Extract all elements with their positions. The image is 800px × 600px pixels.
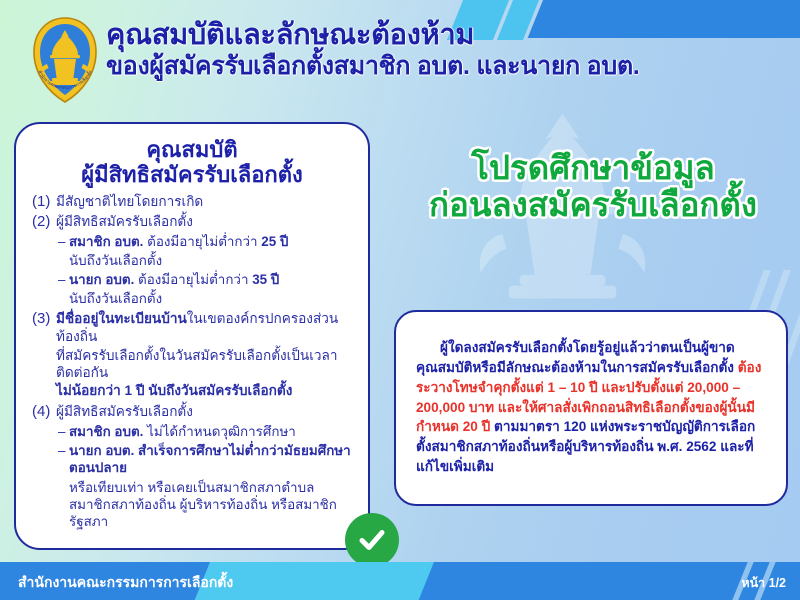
sub-item-continuation: หรือเทียบเท่า หรือเคยเป็นสมาชิกสภาตำบล	[69, 479, 352, 496]
sub-item-text: นายก อบต. ต้องมีอายุไม่ต่ำกว่า 35 ปี	[69, 271, 352, 288]
sub-item-mid: ต้องมีอายุไม่ต่ำกว่า	[134, 272, 252, 287]
list-item: (1) มีสัญชาติไทยโดยการเกิด	[32, 193, 352, 211]
item3-line-2: ที่สมัครรับเลือกตั้งในวันสมัครรับเลือกตั…	[56, 347, 352, 382]
list-item: (2) ผู้มีสิทธิสมัครรับเลือกตั้ง	[32, 213, 352, 231]
sub-item-text: สมาชิก อบต. ต้องมีอายุไม่ต่ำกว่า 25 ปี	[69, 233, 352, 250]
dash-bullet: –	[58, 423, 69, 440]
card-title-line-1: คุณสมบัติ	[32, 138, 352, 163]
please-study-heading: โปรดศึกษาข้อมูล ก่อนลงสมัครรับเลือกตั้ง	[388, 150, 798, 224]
warning-segment-1: ผู้ใดลงสมัครรับเลือกตั้งโดยรู้อยู่แล้วว่…	[416, 340, 738, 375]
dash-bullet: –	[58, 233, 69, 250]
item-number: (4)	[32, 403, 56, 421]
item3-bold-lead: มีชื่ออยู่ในทะเบียนบ้าน	[56, 311, 187, 326]
sub-item-text: สมาชิก อบต. ไม่ได้กำหนดวุฒิการศึกษา	[69, 423, 352, 440]
sub-list-item: – นายก อบต. สำเร็จการศึกษาไม่ต่ำกว่ามัธย…	[32, 442, 352, 530]
sub-list-item: – สมาชิก อบต. ไม่ได้กำหนดวุฒิการศึกษา	[32, 423, 352, 440]
sub-item-bold-lead: นายก อบต.	[69, 272, 134, 287]
sub-item-bold-lead: นายก อบต. สำเร็จการศึกษาไม่ต่ำกว่ามัธยมศ…	[69, 443, 351, 475]
green-heading-line-2: ก่อนลงสมัครรับเลือกตั้ง	[388, 187, 798, 224]
penalty-warning-box: ผู้ใดลงสมัครรับเลือกตั้งโดยรู้อยู่แล้วว่…	[394, 310, 788, 506]
item3-line-3: ไม่น้อยกว่า 1 ปี นับถึงวันสมัครรับเลือกต…	[56, 382, 352, 400]
qualifications-card: คุณสมบัติ ผู้มีสิทธิสมัครรับเลือกตั้ง (1…	[14, 122, 370, 550]
sub-item-value: 25 ปี	[261, 234, 288, 249]
header-title-line-1: คุณสมบัติและลักษณะต้องห้าม	[106, 20, 666, 51]
item-number: (2)	[32, 213, 56, 231]
dash-bullet: –	[58, 271, 69, 288]
ect-logo: สำนักงานคณะกรรมการการเลือกตั้ง	[22, 12, 108, 108]
card-title-line-2: ผู้มีสิทธิสมัครรับเลือกตั้ง	[32, 163, 352, 188]
item-number: (1)	[32, 193, 56, 211]
sub-item-continuation: สมาชิกสภาท้องถิ่น ผู้บริหารท้องถิ่น หรือ…	[69, 496, 352, 530]
header-title-line-2: ของผู้สมัครรับเลือกตั้งสมาชิก อบต. และนา…	[106, 53, 666, 80]
sub-list-item: – นายก อบต. ต้องมีอายุไม่ต่ำกว่า 35 ปี น…	[32, 271, 352, 307]
sub-item-bold-lead: สมาชิก อบต.	[69, 424, 143, 439]
item-text: มีสัญชาติไทยโดยการเกิด	[56, 193, 352, 211]
list-item: (3) มีชื่ออยู่ในทะเบียนบ้านในเขตองค์กรปก…	[32, 310, 352, 345]
page-header: คุณสมบัติและลักษณะต้องห้าม ของผู้สมัครรั…	[106, 20, 666, 80]
footer-organization: สำนักงานคณะกรรมการการเลือกตั้ง	[18, 572, 233, 594]
sub-item-continuation: นับถึงวันเลือกตั้ง	[69, 252, 352, 269]
footer-page-number: หน้า 1/2	[741, 573, 786, 593]
penalty-warning-text: ผู้ใดลงสมัครรับเลือกตั้งโดยรู้อยู่แล้วว่…	[416, 338, 766, 477]
list-item: (4) ผู้มีสิทธิสมัครรับเลือกตั้ง	[32, 403, 352, 421]
sub-item-mid: ต้องมีอายุไม่ต่ำกว่า	[143, 234, 261, 249]
item-text: มีชื่ออยู่ในทะเบียนบ้านในเขตองค์กรปกครอง…	[56, 310, 352, 345]
sub-item-text: นายก อบต. สำเร็จการศึกษาไม่ต่ำกว่ามัธยมศ…	[69, 442, 352, 476]
sub-item-bold-lead: สมาชิก อบต.	[69, 234, 143, 249]
item-text: ผู้มีสิทธิสมัครรับเลือกตั้ง	[56, 403, 352, 421]
check-badge	[345, 513, 399, 567]
sub-item-continuation: นับถึงวันเลือกตั้ง	[69, 290, 352, 307]
green-heading-line-1: โปรดศึกษาข้อมูล	[388, 150, 798, 187]
check-mark-icon	[355, 523, 389, 557]
sub-item-rest: ไม่ได้กำหนดวุฒิการศึกษา	[143, 424, 295, 439]
item-number: (3)	[32, 310, 56, 328]
qualifications-list: (1) มีสัญชาติไทยโดยการเกิด (2) ผู้มีสิทธ…	[32, 193, 352, 530]
sub-list-item: – สมาชิก อบต. ต้องมีอายุไม่ต่ำกว่า 25 ปี…	[32, 233, 352, 269]
item-text: ผู้มีสิทธิสมัครรับเลือกตั้ง	[56, 213, 352, 231]
sub-item-value: 35 ปี	[252, 272, 279, 287]
dash-bullet: –	[58, 442, 69, 459]
